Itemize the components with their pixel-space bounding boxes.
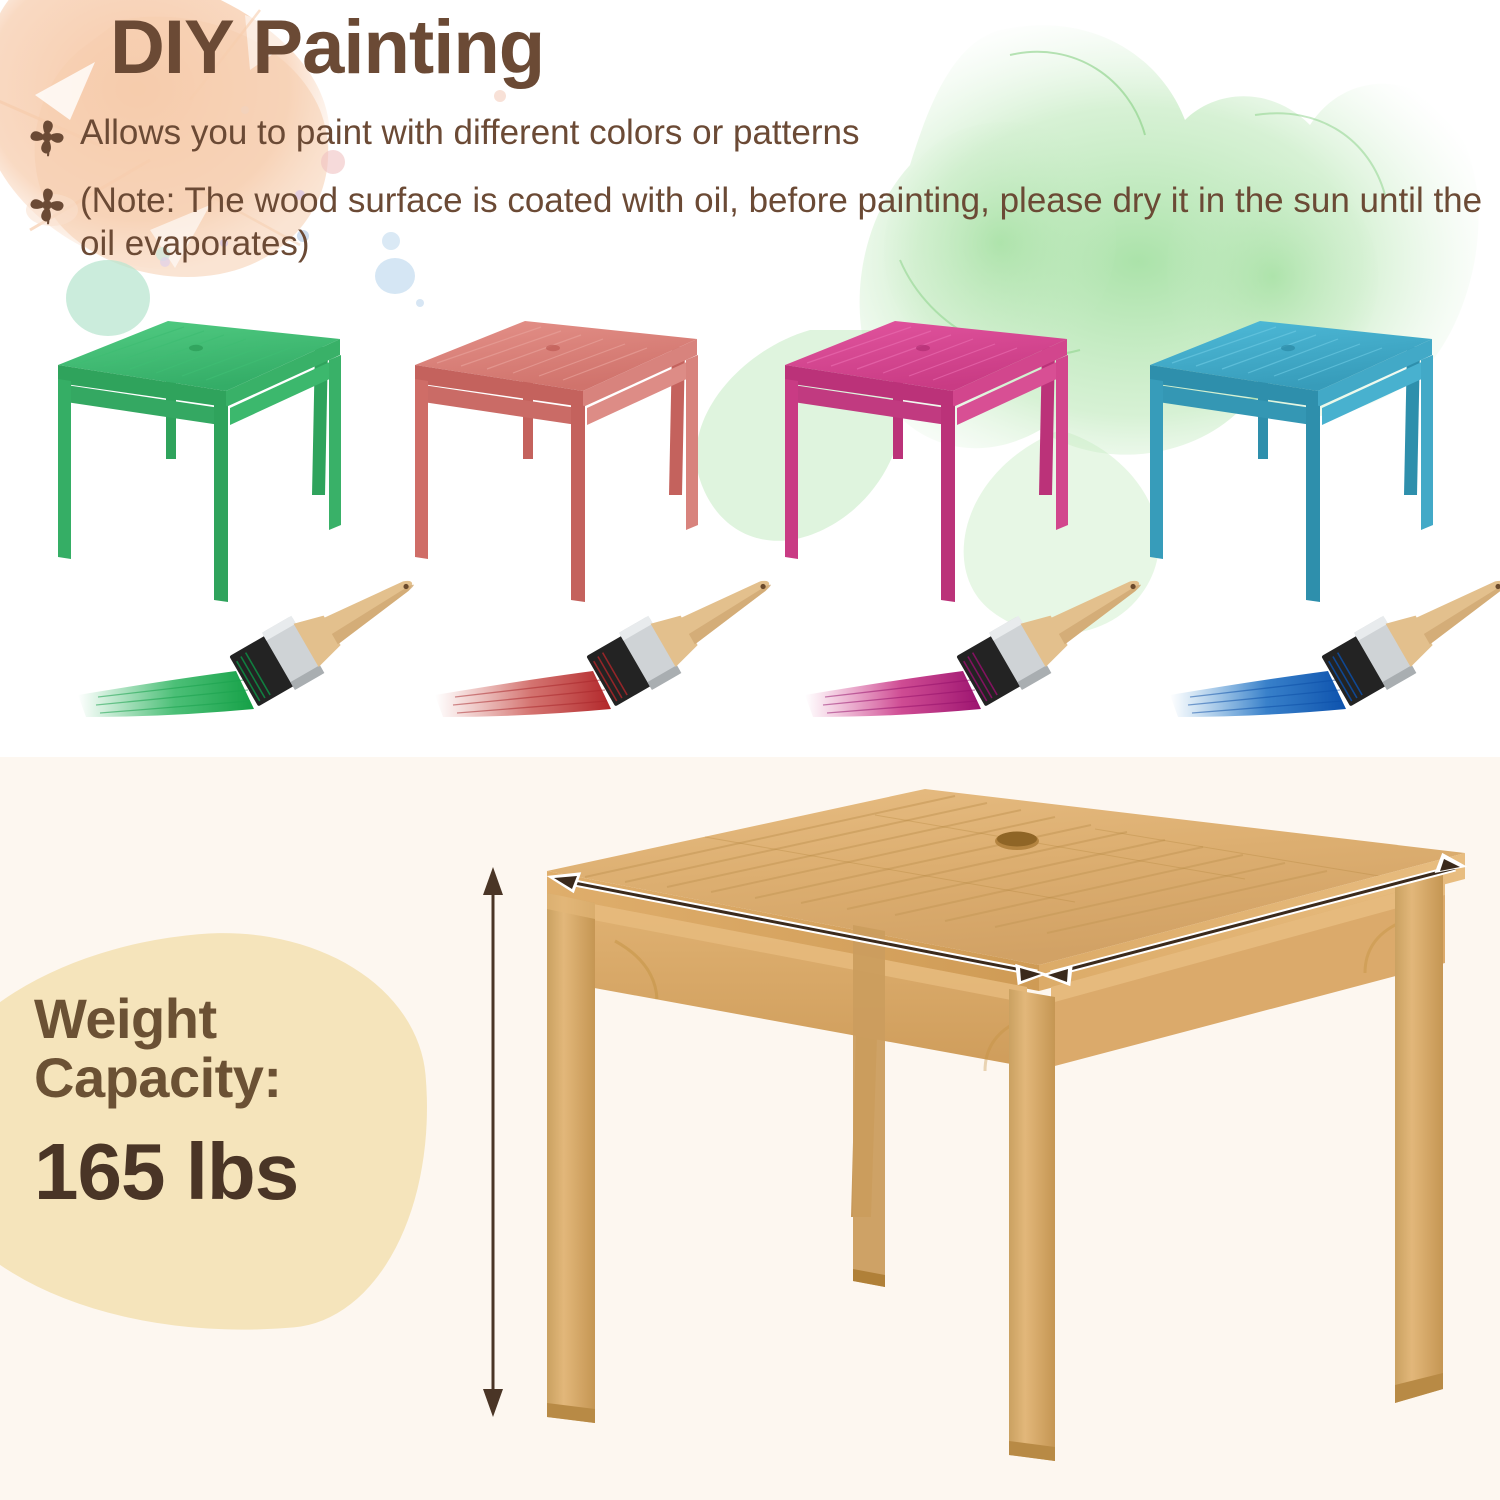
weight-capacity-block: Weight Capacity: 165 lbs <box>34 989 414 1218</box>
clover-icon <box>26 184 68 226</box>
bullet-text: Allows you to paint with different color… <box>80 112 859 155</box>
table-leg-front-center <box>1009 989 1055 1461</box>
color-table-unit-coral <box>375 305 735 725</box>
table-leg-front-right <box>1395 875 1443 1403</box>
weight-capacity-label-line2: Capacity: <box>34 1048 414 1107</box>
weight-capacity-value: 165 lbs <box>34 1126 414 1218</box>
color-table-unit-pink <box>745 305 1105 725</box>
color-table-unit-green <box>18 305 378 725</box>
infographic-page: DIY Painting Allows you to paint with di… <box>0 0 1500 1500</box>
wooden-table-illustration <box>455 767 1465 1487</box>
bullet-item: (Note: The wood surface is coated with o… <box>26 180 1486 265</box>
specs-section: Weight Capacity: 165 lbs <box>0 757 1500 1500</box>
table-leg-back-center <box>853 925 885 1287</box>
bullet-text: (Note: The wood surface is coated with o… <box>80 180 1486 265</box>
weight-capacity-label-line1: Weight <box>34 989 414 1048</box>
dimension-arrow-height <box>483 867 503 1417</box>
page-title: DIY Painting <box>110 10 544 86</box>
diy-painting-section: DIY Painting Allows you to paint with di… <box>0 0 1500 757</box>
bullet-item: Allows you to paint with different color… <box>26 112 1206 158</box>
color-table-unit-blue <box>1110 305 1470 725</box>
clover-icon <box>26 116 68 158</box>
table-leg-front-left <box>547 893 595 1423</box>
